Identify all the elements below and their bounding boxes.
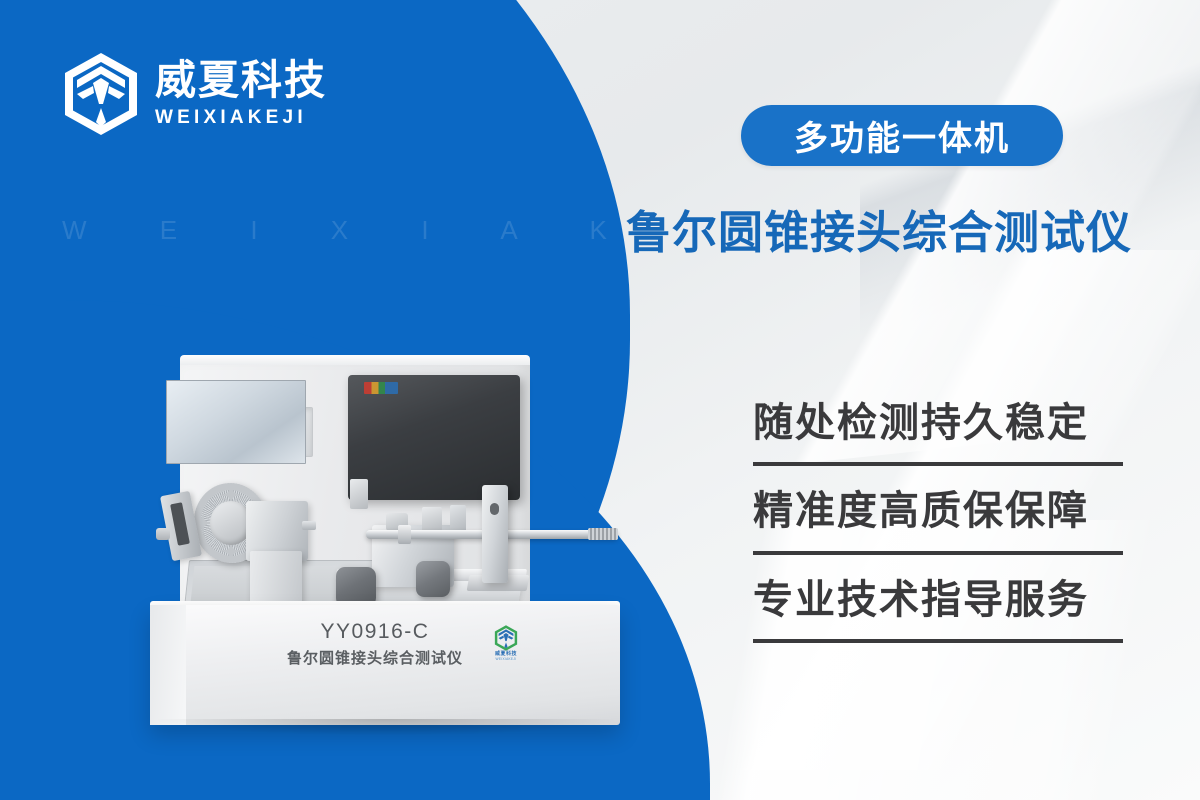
rotary-drive-pin <box>302 521 316 530</box>
upright-bracket-slot <box>490 503 499 515</box>
upright-bracket <box>482 485 508 583</box>
feature-list: 随处检测持久稳定 精准度高质保保障 专业技术指导服务 <box>753 400 1125 665</box>
hexagon-arrow-logo-icon <box>488 625 524 651</box>
hmi-touchscreen-bezel[interactable] <box>348 375 520 500</box>
product-image: YY0916-C 鲁尔圆锥接头综合测试仪 威夏科技 WEIXIAKEJI <box>150 355 670 765</box>
fixture-top-block-b <box>422 507 442 531</box>
shaft-collar <box>398 525 411 544</box>
shaft-threaded-tip <box>588 528 618 540</box>
machine-housing-top-edge <box>180 355 530 365</box>
hero-badge: 多功能一体机 <box>741 105 1063 166</box>
product-nameplate: YY0916-C 鲁尔圆锥接头综合测试仪 <box>245 620 505 668</box>
feature-label: 随处检测持久稳定 <box>753 400 1125 446</box>
feature-item-3: 专业技术指导服务 <box>753 577 1125 643</box>
machine-drop-shadow <box>158 719 614 735</box>
feature-item-1: 随处检测持久稳定 <box>753 400 1125 466</box>
nameplate-mini-logo: 威夏科技 WEIXIAKEJI <box>488 625 524 663</box>
feature-label: 专业技术指导服务 <box>753 577 1125 623</box>
brand-name-en: WEIXIAKEJI <box>155 107 327 129</box>
feature-divider <box>753 639 1123 643</box>
rotary-arm-adjuster[interactable] <box>156 528 170 540</box>
product-model-number: YY0916-C <box>245 620 505 644</box>
feature-item-2: 精准度高质保保障 <box>753 488 1125 554</box>
clamp-knob-right[interactable] <box>416 561 450 597</box>
hmi-brand-stripe-icon <box>364 382 398 394</box>
hero-badge-label: 多功能一体机 <box>794 111 1010 160</box>
page-title: 鲁尔圆锥接头综合测试仪 <box>626 196 1186 261</box>
brand-logo: 威夏科技 WEIXIAKEJI <box>63 52 327 136</box>
hexagon-arrow-logo-icon <box>63 52 139 136</box>
product-banner: W E I X I A K E J I 威夏科技 WEIXIAKEJI 多功能一… <box>0 0 1200 800</box>
feature-divider <box>753 551 1123 555</box>
brand-text: 威夏科技 WEIXIAKEJI <box>155 59 327 128</box>
machine-base-left-face <box>150 605 186 725</box>
feature-label: 精准度高质保保障 <box>753 488 1125 534</box>
product-name-cn: 鲁尔圆锥接头综合测试仪 <box>245 647 505 668</box>
hmi-screen[interactable] <box>166 380 306 464</box>
mini-logo-name-en: WEIXIAKEJI <box>488 658 524 661</box>
fixture-left-bracket <box>350 479 368 509</box>
feature-divider <box>753 462 1123 466</box>
brand-name-cn: 威夏科技 <box>155 59 327 102</box>
